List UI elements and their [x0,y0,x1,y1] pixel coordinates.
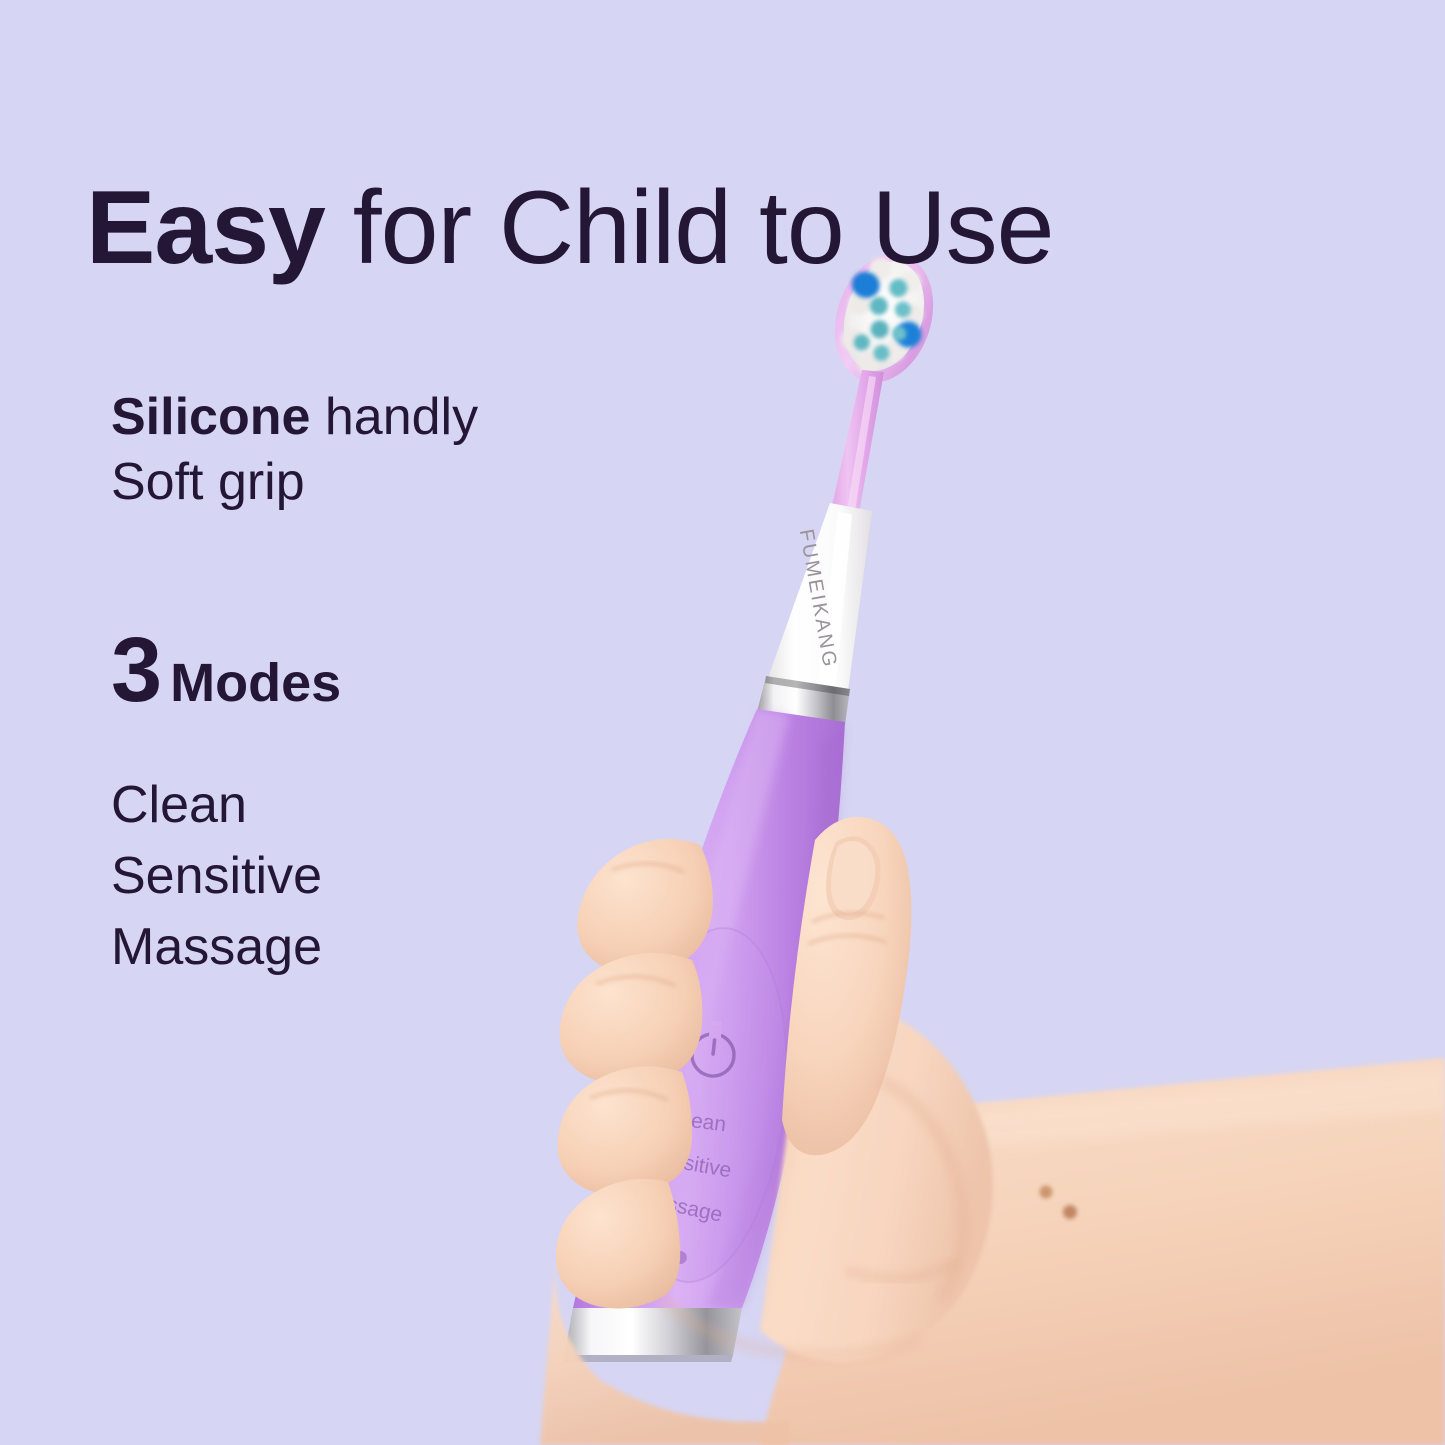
headline-rest: for Child to Use [325,170,1054,286]
finger-ring [558,1066,692,1195]
finger-middle [560,953,703,1085]
brush-neck: FUMEIKANG [768,503,872,691]
mode-item-sensitive: Sensitive [111,841,322,912]
mode-item-clean: Clean [111,770,322,841]
modes-word: Modes [170,653,341,713]
skin-mark [1040,1186,1053,1199]
skin-mark [1063,1205,1077,1219]
feature-silicone-rest: handly [310,388,478,446]
modes-count: 3 [111,619,160,721]
mode-item-massage: Massage [111,912,322,983]
feature-silicone: Silicone handly Soft grip [111,385,478,515]
finger-index [577,839,713,973]
feature-modes-heading: 3Modes [111,624,341,716]
feature-silicone-strong: Silicone [111,388,310,446]
modes-list: Clean Sensitive Massage [111,770,322,984]
feature-silicone-line2: Soft grip [111,450,478,515]
product-feature-graphic: FUMEIKANG [0,0,1445,1445]
headline-strong: Easy [86,170,325,286]
finger-pinky [556,1179,680,1309]
page-title: Easy for Child to Use [86,174,1376,283]
